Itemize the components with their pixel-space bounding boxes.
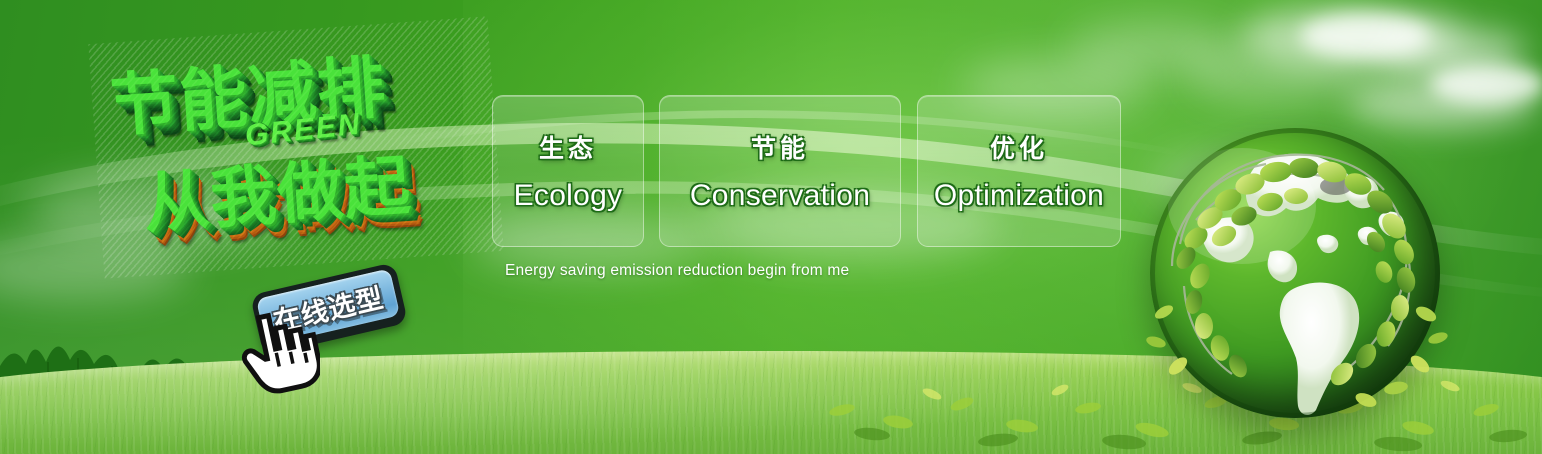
feature-card-en-label: Ecology bbox=[514, 179, 623, 213]
feature-card-cn-label: 优化 bbox=[990, 129, 1048, 165]
eco-banner: 节能减排 GREEN 从我做起 生态 Ecology 节能 Conservati… bbox=[0, 0, 1542, 454]
tagline: Energy saving emission reduction begin f… bbox=[505, 262, 849, 280]
feature-card-cn-label: 生态 bbox=[539, 129, 597, 165]
headline-line-bottom: 从我做起 bbox=[140, 132, 414, 246]
feature-card-en-label: Conservation bbox=[690, 179, 870, 213]
feature-card-conservation[interactable]: 节能 Conservation bbox=[659, 95, 901, 247]
feature-card-optimization[interactable]: 优化 Optimization bbox=[917, 95, 1121, 247]
feature-card-ecology[interactable]: 生态 Ecology bbox=[492, 95, 644, 247]
headline-3d: 节能减排 GREEN 从我做起 bbox=[88, 16, 503, 278]
feature-card-cn-label: 节能 bbox=[751, 129, 809, 165]
globe-sphere bbox=[1150, 128, 1440, 418]
hand-pointer-icon[interactable] bbox=[240, 308, 320, 394]
leafy-earth-globe-icon bbox=[1150, 128, 1440, 418]
feature-card-en-label: Optimization bbox=[934, 179, 1104, 213]
